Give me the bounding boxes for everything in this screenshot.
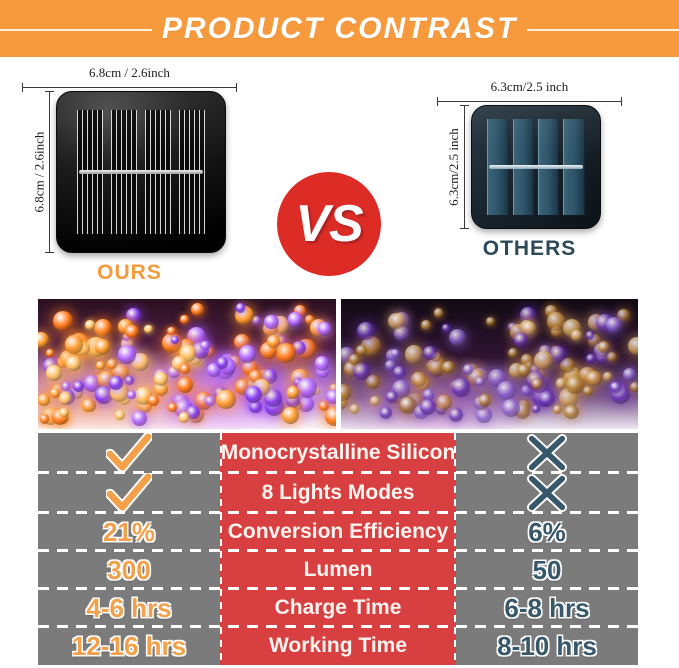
ours-value: 300	[107, 555, 150, 586]
tick-right-icon	[236, 83, 237, 92]
check-icon	[106, 473, 152, 513]
tick-top-icon	[460, 105, 469, 106]
banner-rule-right	[527, 29, 679, 31]
table-row: 12-16 hrsWorking Time8-10 hrs	[38, 627, 638, 665]
feature-label: Working Time	[269, 634, 407, 658]
others-value-cell: 8-10 hrs	[456, 627, 638, 665]
feature-label-cell: 8 Lights Modes	[220, 473, 456, 513]
ours-width-dimension: 6.8cm / 2.6inch	[22, 65, 237, 91]
vs-badge: VS	[277, 172, 381, 276]
others-panel-block: 6.3cm/2.5 inch 6.3cm/2.5 inch	[437, 79, 622, 261]
tick-right-icon	[621, 97, 622, 106]
feature-label-cell: Working Time	[220, 627, 456, 665]
others-value: 6-8 hrs	[504, 593, 589, 624]
ours-caption: OURS	[22, 261, 237, 285]
tick-top-icon	[45, 91, 54, 92]
ours-led-photo	[38, 299, 336, 429]
others-solar-panel-image	[471, 105, 601, 229]
table-row: 8 Lights Modes	[38, 473, 638, 513]
table-row: 21%Conversion Efficiency6%	[38, 513, 638, 551]
others-width-rule	[437, 97, 622, 105]
others-height-dimension: 6.3cm/2.5 inch	[437, 105, 471, 229]
feature-label: Conversion Efficiency	[228, 520, 449, 544]
feature-label: 8 Lights Modes	[262, 481, 415, 505]
led-photo-strip	[38, 299, 638, 429]
others-value-cell: 6%	[456, 513, 638, 551]
others-width-label: 6.3cm/2.5 inch	[491, 79, 569, 95]
feature-label-cell: Charge Time	[220, 589, 456, 627]
ours-height-label: 6.8cm / 2.6inch	[31, 132, 47, 213]
others-value: 8-10 hrs	[497, 631, 597, 662]
table-row: 4-6 hrsCharge Time6-8 hrs	[38, 589, 638, 627]
ours-value: 4-6 hrs	[86, 593, 171, 624]
ours-value-cell: 300	[38, 551, 220, 589]
others-value-cell: 6-8 hrs	[456, 589, 638, 627]
feature-label-cell: Lumen	[220, 551, 456, 589]
ours-value-cell: 21%	[38, 513, 220, 551]
ours-busbar	[79, 170, 203, 174]
ours-value: 12-16 hrs	[72, 631, 186, 662]
others-value-cell	[456, 473, 638, 513]
cross-icon	[524, 473, 570, 513]
feature-label-cell: Monocrystalline Silicon	[220, 433, 456, 473]
ours-panel-block: 6.8cm / 2.6inch 6.8cm / 2.6inch	[22, 65, 237, 285]
others-height-label: 6.3cm/2.5 inch	[446, 128, 462, 206]
others-led-photo	[341, 299, 639, 429]
panel-comparison-area: 6.8cm / 2.6inch 6.8cm / 2.6inch	[0, 57, 679, 290]
feature-label: Charge Time	[275, 596, 402, 620]
tick-bottom-icon	[45, 252, 54, 253]
check-icon	[106, 433, 152, 473]
others-caption: OTHERS	[437, 237, 622, 261]
others-value-cell: 50	[456, 551, 638, 589]
header-banner: PRODUCT CONTRAST	[0, 0, 679, 57]
ours-width-rule	[22, 83, 237, 91]
comparison-table: Monocrystalline Silicon8 Lights Modes21%…	[38, 433, 638, 665]
others-led-bulbs	[341, 299, 639, 429]
others-value: 6%	[528, 517, 566, 548]
table-row: 300Lumen50	[38, 551, 638, 589]
others-value-cell	[456, 433, 638, 473]
feature-label: Lumen	[304, 558, 373, 582]
ours-width-label: 6.8cm / 2.6inch	[89, 65, 170, 81]
table-row: Monocrystalline Silicon	[38, 433, 638, 473]
ours-value-cell	[38, 433, 220, 473]
ours-value-cell: 12-16 hrs	[38, 627, 220, 665]
tick-bottom-icon	[460, 228, 469, 229]
ours-value: 21%	[103, 517, 155, 548]
ours-value-cell: 4-6 hrs	[38, 589, 220, 627]
feature-label-cell: Conversion Efficiency	[220, 513, 456, 551]
vs-label: VS	[295, 194, 362, 254]
ours-led-bulbs	[38, 299, 336, 429]
page-title: PRODUCT CONTRAST	[152, 12, 527, 46]
others-width-dimension: 6.3cm/2.5 inch	[437, 79, 622, 105]
ours-height-dimension: 6.8cm / 2.6inch	[22, 91, 56, 253]
cross-icon	[524, 433, 570, 473]
banner-rule-left	[0, 29, 152, 31]
ours-value-cell	[38, 473, 220, 513]
others-busbar	[489, 165, 584, 169]
feature-label: Monocrystalline Silicon	[221, 441, 456, 465]
ours-solar-panel-image	[56, 91, 226, 253]
others-value: 50	[533, 555, 562, 586]
